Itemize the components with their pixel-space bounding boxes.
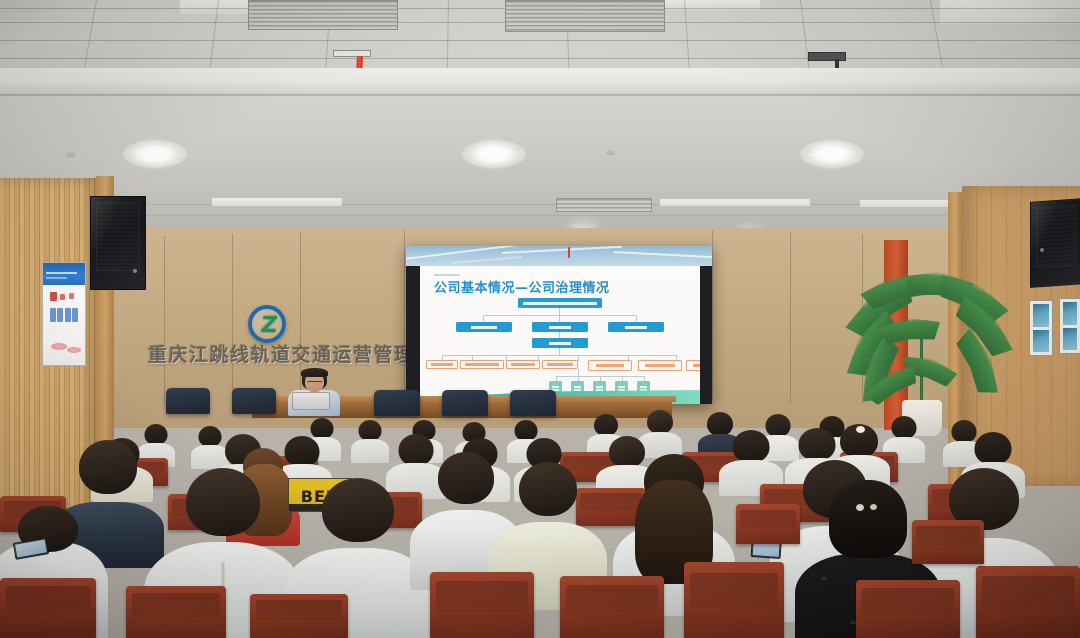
seat-back bbox=[126, 586, 226, 638]
seat-back bbox=[912, 520, 984, 564]
hair-clip bbox=[856, 504, 864, 511]
presentation-slide: 公司基本情况—公司治理情况 bbox=[420, 266, 700, 404]
org-dept-box bbox=[542, 360, 578, 369]
seat-back bbox=[250, 594, 348, 638]
wall-speaker-left bbox=[90, 196, 146, 290]
org-dept-box bbox=[426, 360, 458, 369]
front-chair bbox=[232, 388, 276, 414]
audience-member bbox=[722, 430, 780, 492]
seat-back bbox=[560, 576, 664, 638]
audience-member bbox=[352, 420, 388, 460]
org-dept-box bbox=[460, 360, 504, 369]
wall-speaker-right bbox=[1030, 198, 1080, 288]
org-node-box bbox=[456, 322, 512, 332]
company-logo: Z bbox=[248, 305, 286, 343]
org-dept-box bbox=[686, 360, 700, 371]
org-node-box bbox=[532, 338, 588, 348]
company-logo-mark: Z bbox=[259, 313, 278, 338]
seat-back bbox=[430, 572, 534, 638]
seat-back bbox=[0, 578, 96, 638]
projection-screen: 公司基本情况—公司治理情况 bbox=[406, 246, 712, 404]
front-chair bbox=[374, 390, 420, 416]
areca-palm-plant bbox=[846, 272, 1006, 442]
hvac-vent bbox=[505, 0, 665, 32]
slide-title: 公司基本情况—公司治理情况 bbox=[434, 277, 610, 296]
seat-back bbox=[684, 562, 784, 638]
front-chair bbox=[510, 390, 556, 416]
presenter-laptop bbox=[292, 392, 330, 410]
framed-poster bbox=[1029, 300, 1053, 356]
front-chair bbox=[166, 388, 210, 414]
seat-back bbox=[736, 504, 800, 544]
seat-back bbox=[856, 580, 960, 638]
smoke-detector bbox=[606, 150, 615, 154]
conference-room-scene: Z 重庆江跳线轨道交通运营管理有限公司 公司基本情况—公司治理情况 bbox=[0, 0, 1080, 638]
hair-clip bbox=[870, 504, 877, 510]
hvac-vent bbox=[556, 198, 652, 212]
hvac-vent bbox=[248, 0, 398, 30]
presenter-glasses bbox=[307, 381, 322, 384]
framed-poster bbox=[1059, 298, 1080, 354]
smoke-detector bbox=[66, 152, 75, 156]
front-chair bbox=[442, 390, 488, 416]
ceiling-bright-tile bbox=[940, 0, 1080, 24]
banner-header bbox=[43, 263, 85, 285]
safety-notice-banner bbox=[42, 262, 86, 366]
org-dept-box bbox=[506, 360, 540, 369]
org-dept-box bbox=[588, 360, 632, 371]
screen-reflection-band bbox=[406, 246, 712, 266]
org-dept-box bbox=[638, 360, 682, 371]
ceiling-sensor-plate bbox=[808, 52, 846, 61]
org-root-box bbox=[518, 298, 602, 308]
hair-clip bbox=[856, 426, 865, 433]
org-node-box bbox=[532, 322, 588, 332]
seat-back bbox=[976, 566, 1080, 638]
red-hanging-marker-base bbox=[333, 50, 371, 57]
hair-bun bbox=[829, 480, 907, 558]
org-node-box bbox=[608, 322, 664, 332]
